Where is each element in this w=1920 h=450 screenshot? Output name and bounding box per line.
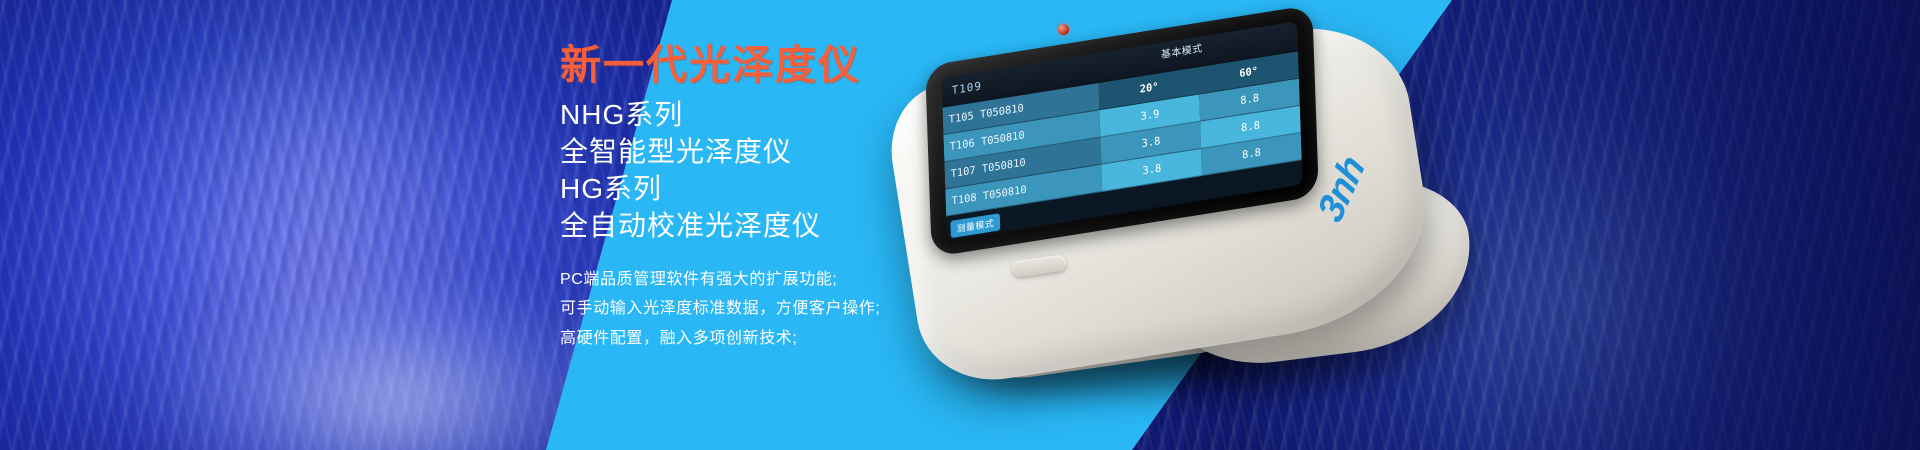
background-vignette-right xyxy=(1500,0,1920,450)
measurement-name-column: T105 T050810 T106 T050810 T107 T050810 T… xyxy=(942,83,1102,219)
product-banner: 新一代光泽度仪 NHG系列 全智能型光泽度仪 HG系列 全自动校准光泽度仪 PC… xyxy=(0,0,1920,450)
gloss-meter-device: T109 基本模式 10:51 2019.05.08 T105 T050810 … xyxy=(862,18,1502,438)
screen-mode-button[interactable]: 测量模式 xyxy=(950,213,1000,238)
measurement-60deg-column: 60° 8.8 8.8 8.8 xyxy=(1198,51,1301,178)
measurement-20deg-column: 20° 3.9 3.8 3.8 xyxy=(1099,67,1202,194)
status-led-icon xyxy=(1057,23,1070,36)
